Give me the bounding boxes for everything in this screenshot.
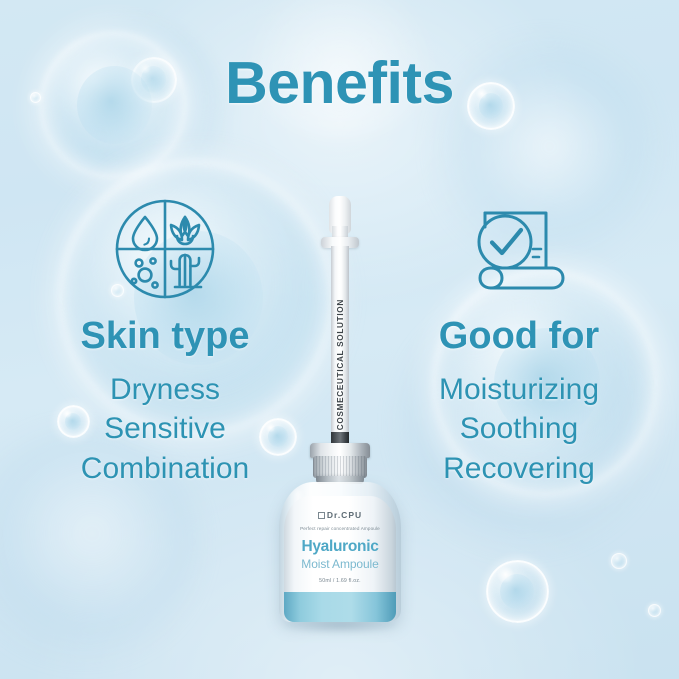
- benefit-heading-good-for: Good for: [396, 316, 642, 358]
- label-product-name: Hyaluronic: [284, 538, 396, 556]
- benefit-item: Dryness: [42, 370, 288, 410]
- dropper-stem-text: COSMECEUTICAL SOLUTION: [330, 300, 350, 430]
- benefit-heading-skin-type: Skin type: [42, 316, 288, 358]
- bubble-decoration: [611, 553, 627, 569]
- skin-type-quadrant-icon: [42, 186, 288, 312]
- benefit-item: Sensitive: [42, 409, 288, 449]
- infographic-canvas: Benefits: [0, 0, 679, 679]
- label-color-band: [284, 592, 396, 622]
- benefit-column-skin-type: Skin type Dryness Sensitive Combination: [42, 186, 288, 489]
- brand-mark-icon: [318, 512, 325, 519]
- benefit-item: Combination: [42, 449, 288, 489]
- label-brand: Dr.CPU: [284, 510, 396, 520]
- bottle-cap-ring: [313, 456, 367, 478]
- benefit-list-good-for: Moisturizing Soothing Recovering: [396, 370, 642, 489]
- benefit-list-skin-type: Dryness Sensitive Combination: [42, 370, 288, 489]
- bottle-label: Dr.CPU Perfect repair concentrated Ampou…: [284, 496, 396, 622]
- label-tagline: Perfect repair concentrated Ampoule: [284, 526, 396, 531]
- label-product-type: Moist Ampoule: [284, 557, 396, 571]
- benefit-item: Recovering: [396, 449, 642, 489]
- product-bottle-image: COSMECEUTICAL SOLUTION Dr.CPU Perfect re…: [272, 196, 408, 626]
- bubble-decoration: [648, 604, 661, 617]
- benefit-item: Moisturizing: [396, 370, 642, 410]
- page-title: Benefits: [0, 49, 679, 117]
- bubble-decoration: [486, 560, 549, 623]
- benefit-item: Soothing: [396, 409, 642, 449]
- label-volume: 50ml / 1.69 fl.oz.: [284, 578, 396, 584]
- dropper-stem-label: COSMECEUTICAL SOLUTION: [336, 299, 345, 430]
- benefit-column-good-for: Good for Moisturizing Soothing Recoverin…: [396, 186, 642, 489]
- checkmark-scroll-icon: [396, 186, 642, 312]
